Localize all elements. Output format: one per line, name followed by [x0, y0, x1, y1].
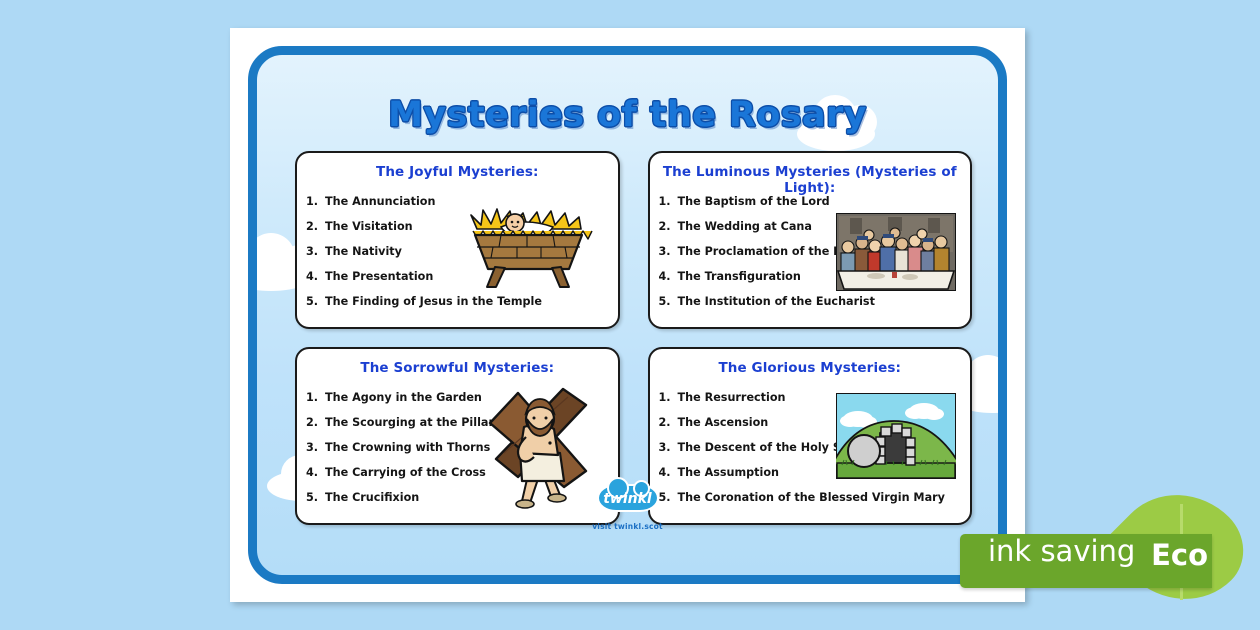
twinkl-logo: twinkl visit twinkl.scot	[257, 484, 998, 531]
mysteries-card-grid: The Joyful Mysteries: The Annunciation T…	[295, 151, 972, 525]
list-item: The Baptism of the Lord	[678, 189, 971, 214]
card-joyful-mysteries: The Joyful Mysteries: The Annunciation T…	[295, 151, 620, 329]
list-item: The Finding of Jesus in the Temple	[325, 289, 618, 314]
twinkl-wordmark: twinkl	[599, 490, 657, 508]
twinkl-cloud-icon: twinkl	[597, 484, 659, 512]
empty-tomb-illustration	[836, 393, 956, 479]
last-supper-illustration	[836, 213, 956, 291]
printable-page-sheet: Mysteries of the Rosary The Joyful Myste…	[230, 28, 1025, 602]
page-blue-frame: Mysteries of the Rosary The Joyful Myste…	[248, 46, 1007, 584]
twinkl-url-text: visit twinkl.scot	[257, 522, 998, 531]
card-body-joyful: The Annunciation The Visitation The Nati…	[297, 189, 618, 323]
card-title-joyful: The Joyful Mysteries:	[297, 164, 618, 180]
page-title: Mysteries of the Rosary	[257, 95, 998, 135]
ink-saving-eco-badge: ink saving Eco	[960, 524, 1260, 600]
card-title-sorrowful: The Sorrowful Mysteries:	[297, 360, 618, 376]
manger-nativity-illustration	[461, 195, 596, 290]
eco-ink-saving-label: ink saving	[988, 533, 1135, 569]
page-inner-area: Mysteries of the Rosary The Joyful Myste…	[257, 55, 998, 575]
list-item: The Institution of the Eucharist	[678, 289, 971, 314]
card-luminous-mysteries: The Luminous Mysteries (Mysteries of Lig…	[648, 151, 973, 329]
card-body-luminous: The Baptism of the Lord The Wedding at C…	[650, 189, 971, 323]
card-title-glorious: The Glorious Mysteries:	[650, 360, 971, 376]
eco-word-label: Eco	[1151, 538, 1208, 572]
